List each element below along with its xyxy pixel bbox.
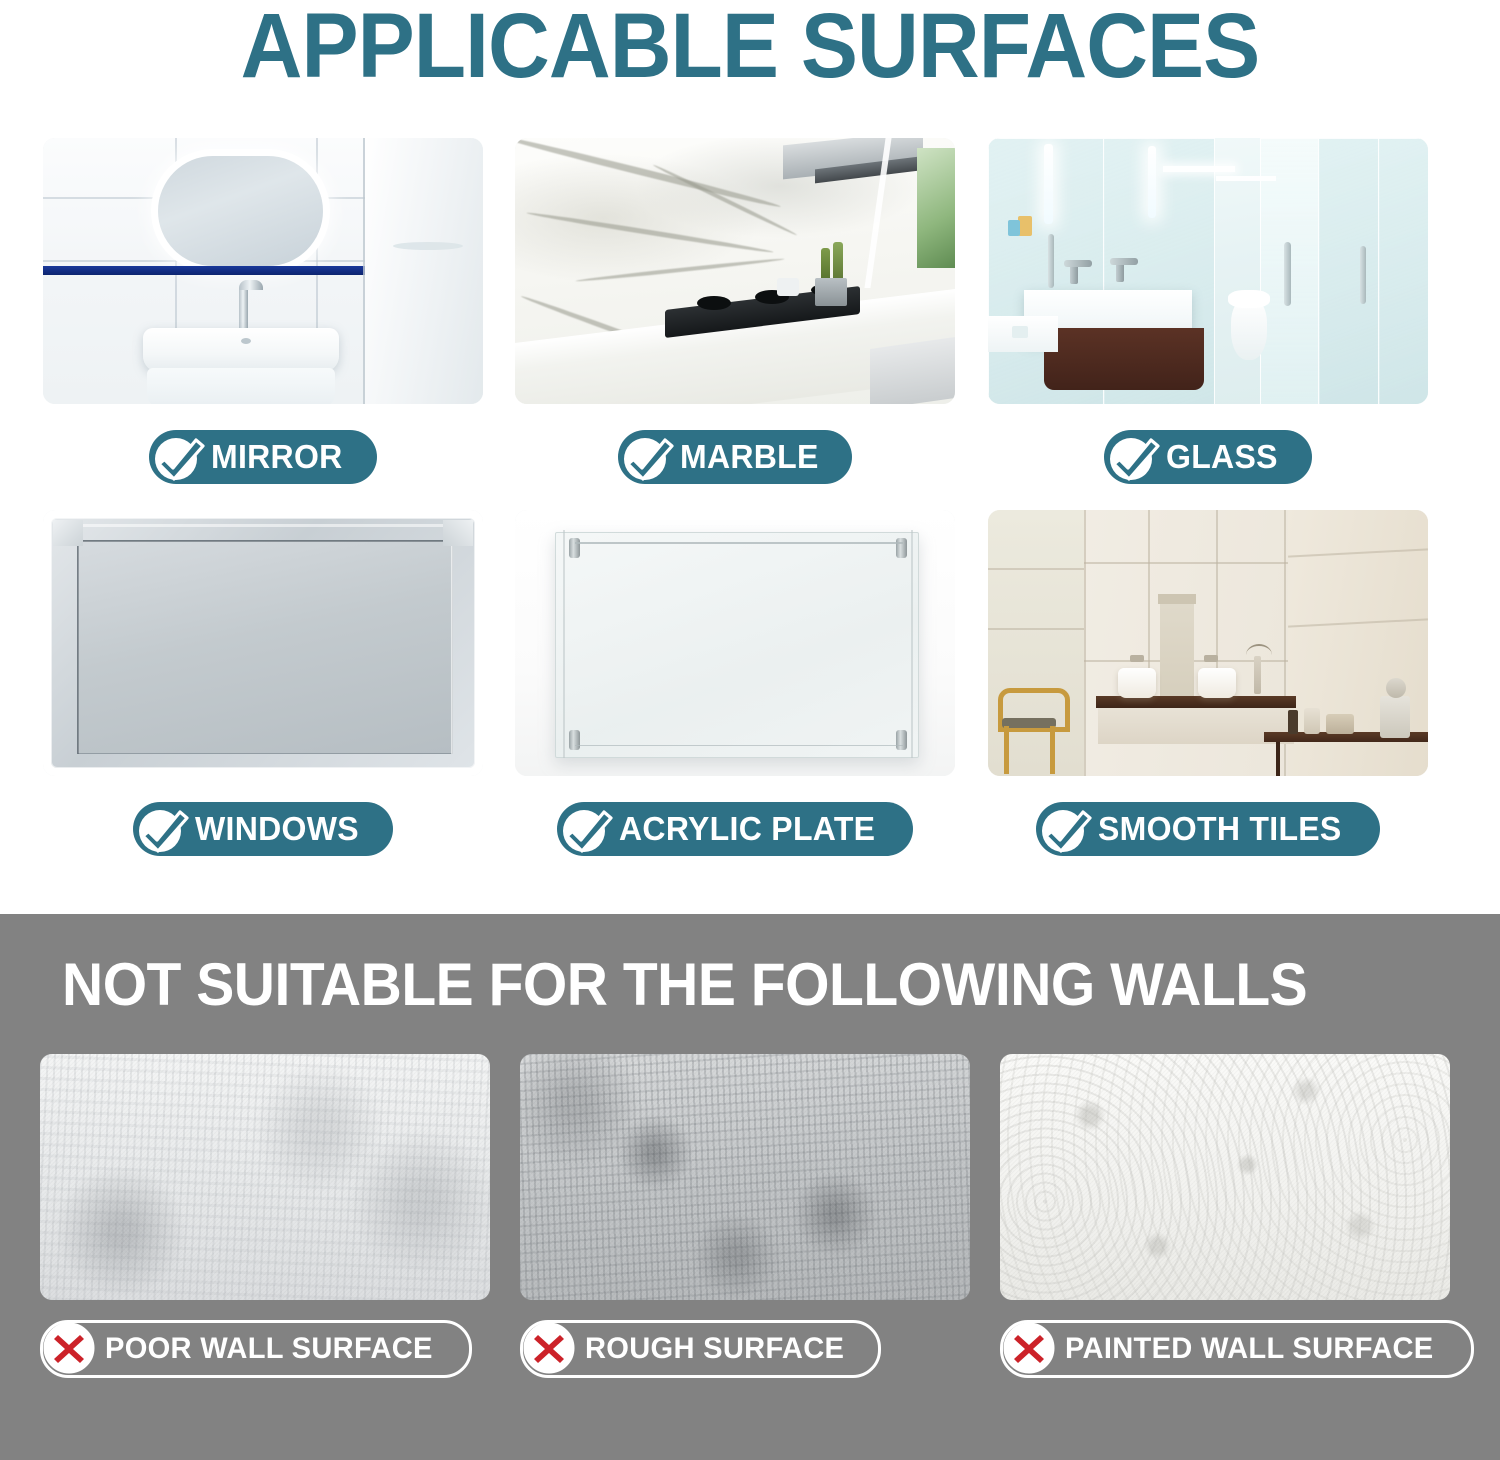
x-circle-icon — [39, 1318, 99, 1378]
applicable-row-2: WINDOWS — [0, 510, 1500, 882]
applicable-grid: MIRROR — [0, 138, 1500, 882]
glass-shower-bathroom-photo — [988, 138, 1428, 404]
surface-pill-smooth-tiles[interactable]: SMOOTH TILES — [1036, 802, 1379, 856]
painted-stucco-texture — [1000, 1054, 1450, 1300]
unsuitable-label: ROUGH SURFACE — [585, 1332, 844, 1366]
unsuitable-label: POOR WALL SURFACE — [105, 1332, 433, 1366]
label-row-poor-wall: POOR WALL SURFACE — [40, 1320, 490, 1378]
surface-pill-acrylic-plate[interactable]: ACRYLIC PLATE — [557, 802, 913, 856]
applicable-surfaces-section: APPLICABLE SURFACES — [0, 0, 1500, 914]
label-row-painted-wall: PAINTED WALL SURFACE — [1000, 1320, 1450, 1378]
check-circle-icon — [554, 795, 620, 861]
label-row-smooth-tiles: SMOOTH TILES — [988, 798, 1428, 860]
acrylic-plate-photo — [515, 510, 955, 776]
check-circle-icon — [1033, 795, 1099, 861]
label-row-acrylic: ACRYLIC PLATE — [515, 798, 955, 860]
surface-label: GLASS — [1166, 438, 1278, 476]
label-row-windows: WINDOWS — [43, 798, 483, 860]
surface-label: WINDOWS — [195, 810, 359, 848]
x-circle-icon — [999, 1318, 1059, 1378]
surface-card-windows[interactable]: WINDOWS — [43, 510, 483, 860]
surface-label: MIRROR — [211, 438, 343, 476]
surface-card-glass[interactable]: GLASS — [988, 138, 1428, 488]
bathroom-oval-mirror-photo — [43, 138, 483, 404]
page-title: APPLICABLE SURFACES — [53, 0, 1448, 98]
surface-label: ACRYLIC PLATE — [619, 810, 875, 848]
surface-card-mirror[interactable]: MIRROR — [43, 138, 483, 488]
check-circle-icon — [130, 795, 196, 861]
unsuitable-pill-poor-wall[interactable]: POOR WALL SURFACE — [40, 1320, 472, 1378]
marble-kitchen-backsplash-photo — [515, 138, 955, 404]
label-row-mirror: MIRROR — [43, 426, 483, 488]
unsuitable-card-poor-wall[interactable]: POOR WALL SURFACE — [40, 1054, 490, 1378]
surface-card-marble[interactable]: MARBLE — [515, 138, 955, 488]
surface-card-smooth-tiles[interactable]: SMOOTH TILES — [988, 510, 1428, 860]
unsuitable-pill-painted-wall[interactable]: PAINTED WALL SURFACE — [1000, 1320, 1474, 1378]
label-row-rough-surface: ROUGH SURFACE — [520, 1320, 970, 1378]
unsuitable-label: PAINTED WALL SURFACE — [1065, 1332, 1434, 1366]
surface-pill-glass[interactable]: GLASS — [1104, 430, 1311, 484]
not-suitable-section: NOT SUITABLE FOR THE FOLLOWING WALLS POO… — [0, 914, 1500, 1460]
unsuitable-card-rough-surface[interactable]: ROUGH SURFACE — [520, 1054, 970, 1378]
surface-pill-mirror[interactable]: MIRROR — [149, 430, 377, 484]
x-circle-icon — [519, 1318, 579, 1378]
surface-pill-windows[interactable]: WINDOWS — [133, 802, 394, 856]
check-circle-icon — [615, 423, 681, 489]
poor-wall-concrete-texture — [40, 1054, 490, 1300]
unsuitable-card-painted-wall[interactable]: PAINTED WALL SURFACE — [1000, 1054, 1450, 1378]
surface-label: MARBLE — [680, 438, 819, 476]
unsuitable-pill-rough-surface[interactable]: ROUGH SURFACE — [520, 1320, 881, 1378]
label-row-marble: MARBLE — [515, 426, 955, 488]
label-row-glass: GLASS — [988, 426, 1428, 488]
check-circle-icon — [1101, 423, 1167, 489]
window-pane-photo — [43, 510, 483, 776]
surface-label: SMOOTH TILES — [1098, 810, 1342, 848]
surface-pill-marble[interactable]: MARBLE — [618, 430, 853, 484]
applicable-row-1: MIRROR — [0, 138, 1500, 510]
check-circle-icon — [146, 423, 212, 489]
rough-concrete-texture — [520, 1054, 970, 1300]
tiled-bathroom-photo — [988, 510, 1428, 776]
surface-card-acrylic[interactable]: ACRYLIC PLATE — [515, 510, 955, 860]
not-suitable-title: NOT SUITABLE FOR THE FOLLOWING WALLS — [62, 952, 1307, 1018]
